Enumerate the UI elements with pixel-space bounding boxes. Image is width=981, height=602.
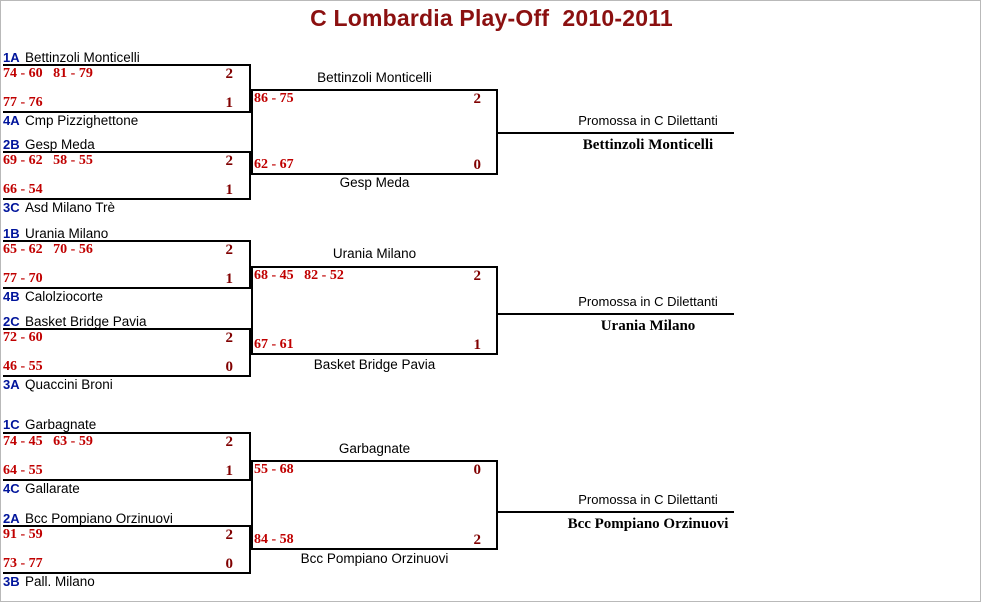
seed-label: 1A [3, 51, 20, 65]
series-scores: 66 - 54 [3, 183, 43, 197]
seed-label: 3C [3, 201, 20, 215]
team-name: Basket Bridge Pavia [25, 315, 147, 329]
seed-label: 4B [3, 290, 20, 304]
series-wins: 0 [199, 557, 233, 572]
series-wins: 1 [199, 272, 233, 287]
bracket-line [251, 548, 498, 550]
series-scores: 64 - 55 [3, 464, 43, 478]
series-wins: 2 [199, 435, 233, 450]
series-scores: 55 - 68 [254, 463, 294, 477]
seed-label: 1B [3, 227, 20, 241]
seed-label: 1C [3, 418, 20, 432]
team-name: Cmp Pizzighettone [25, 114, 138, 128]
bracket-line [251, 266, 253, 354]
series-scores: 72 - 60 [3, 331, 43, 345]
series-scores: 91 - 59 [3, 528, 43, 542]
series-wins: 2 [199, 331, 233, 346]
series-scores: 74 - 60 81 - 79 [3, 67, 93, 81]
seed-label: 3A [3, 378, 20, 392]
series-scores: 74 - 45 63 - 59 [3, 435, 93, 449]
series-wins: 1 [199, 96, 233, 111]
winner-name: Bcc Pompiano Orzinuovi [498, 517, 798, 532]
semifinal-team: Urania Milano [251, 247, 498, 261]
series-wins: 2 [447, 269, 481, 284]
seed-label: 2C [3, 315, 20, 329]
bracket-line [251, 460, 253, 550]
page-title: C Lombardia Play-Off 2010-2011 [1, 5, 981, 32]
promotion-label: Promossa in C Dilettanti [498, 114, 798, 128]
team-name: Quaccini Broni [25, 378, 113, 392]
bracket-page: C Lombardia Play-Off 2010-2011 1A Bettin… [0, 0, 981, 602]
team-name: Bettinzoli Monticelli [25, 51, 140, 65]
series-scores: 77 - 76 [3, 96, 43, 110]
series-scores: 46 - 55 [3, 360, 43, 374]
team-name: Urania Milano [25, 227, 108, 241]
seed-label: 4C [3, 482, 20, 496]
seed-label: 3B [3, 575, 20, 589]
series-wins: 0 [447, 463, 481, 478]
winner-name: Bettinzoli Monticelli [498, 138, 798, 153]
series-wins: 1 [199, 183, 233, 198]
semifinal-team: Bettinzoli Monticelli [251, 71, 498, 85]
series-scores: 73 - 77 [3, 557, 43, 571]
bracket-line [251, 89, 253, 175]
series-wins: 2 [447, 533, 481, 548]
series-wins: 2 [199, 243, 233, 258]
bracket-line [498, 132, 734, 134]
bracket-line [251, 353, 498, 355]
team-name: Gallarate [25, 482, 80, 496]
series-wins: 2 [199, 528, 233, 543]
series-scores: 77 - 70 [3, 272, 43, 286]
seed-label: 2B [3, 138, 20, 152]
series-scores: 69 - 62 58 - 55 [3, 154, 93, 168]
series-scores: 84 - 58 [254, 533, 294, 547]
series-scores: 67 - 61 [254, 338, 294, 352]
bracket-line [496, 266, 498, 354]
series-scores: 62 - 67 [254, 158, 294, 172]
series-scores: 86 - 75 [254, 92, 294, 106]
series-wins: 1 [199, 464, 233, 479]
promotion-label: Promossa in C Dilettanti [498, 295, 798, 309]
team-name: Pall. Milano [25, 575, 95, 589]
team-name: Garbagnate [25, 418, 96, 432]
semifinal-team: Gesp Meda [251, 176, 498, 190]
series-wins: 1 [447, 338, 481, 353]
seed-label: 2A [3, 512, 20, 526]
team-name: Calolziocorte [25, 290, 103, 304]
team-name: Asd Milano Trè [25, 201, 115, 215]
team-name: Gesp Meda [25, 138, 95, 152]
seed-label: 4A [3, 114, 20, 128]
series-wins: 2 [447, 92, 481, 107]
semifinal-team: Basket Bridge Pavia [251, 358, 498, 372]
promotion-label: Promossa in C Dilettanti [498, 493, 798, 507]
bracket-line [498, 511, 734, 513]
series-scores: 68 - 45 82 - 52 [254, 269, 344, 283]
series-wins: 2 [199, 67, 233, 82]
semifinal-team: Garbagnate [251, 442, 498, 456]
series-wins: 0 [447, 158, 481, 173]
series-scores: 65 - 62 70 - 56 [3, 243, 93, 257]
winner-name: Urania Milano [498, 319, 798, 334]
series-wins: 2 [199, 154, 233, 169]
semifinal-team: Bcc Pompiano Orzinuovi [251, 552, 498, 566]
series-wins: 0 [199, 360, 233, 375]
bracket-line [498, 313, 734, 315]
team-name: Bcc Pompiano Orzinuovi [25, 512, 173, 526]
